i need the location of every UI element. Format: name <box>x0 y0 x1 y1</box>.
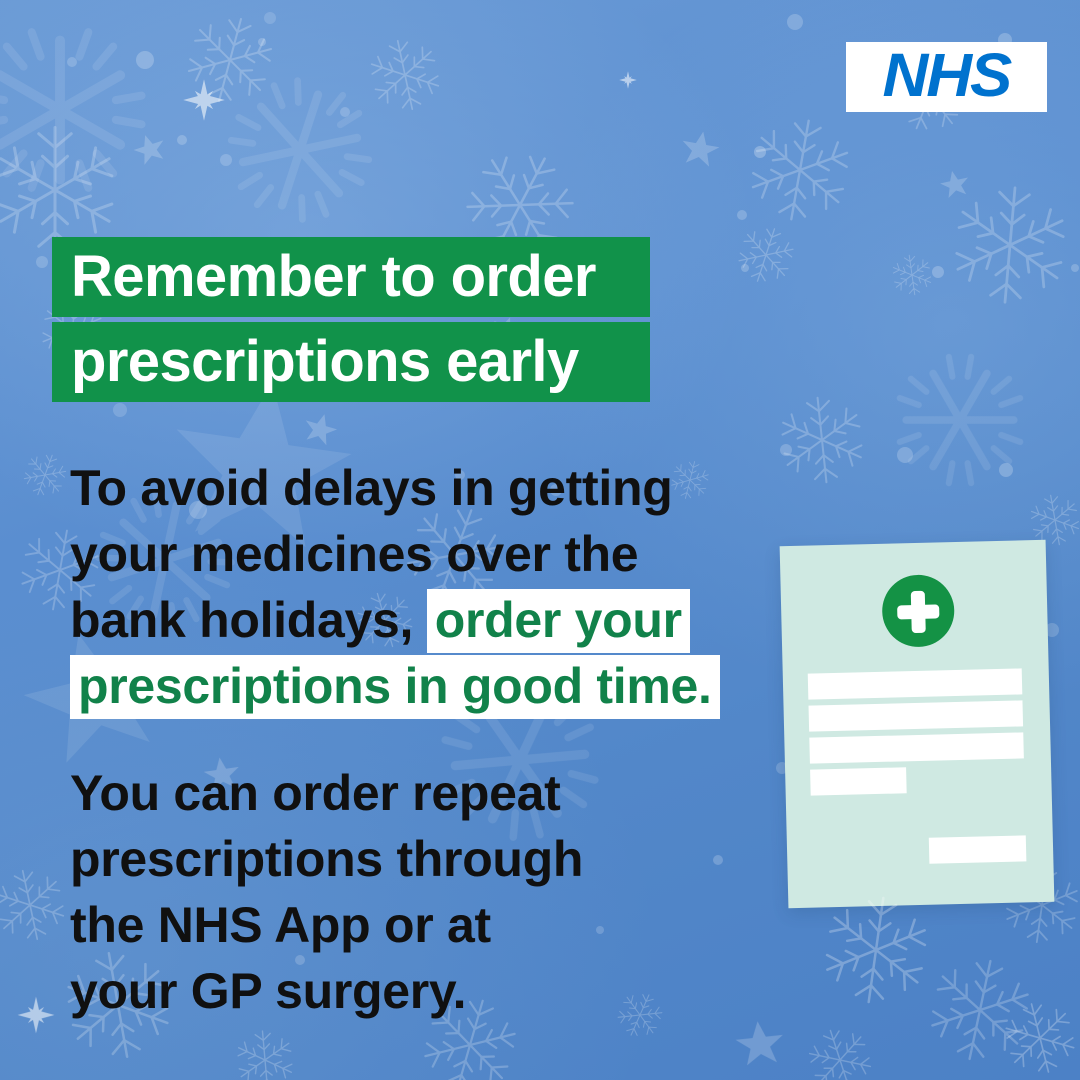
medical-cross-icon <box>881 574 955 648</box>
prescription-text-line <box>809 732 1024 763</box>
body-2-line-1: You can order repeat <box>70 760 770 826</box>
cross-vertical-bar <box>911 590 926 632</box>
body-2-line-3: the NHS App or at <box>70 892 770 958</box>
body-1-line-3-plain: bank holidays, <box>70 592 413 648</box>
headline-line-1: Remember to order <box>52 237 650 317</box>
body-1-line-1: To avoid delays in getting <box>70 455 770 521</box>
body-1-line-4: prescriptions in good time. <box>70 653 770 719</box>
body-1-line-2: your medicines over the <box>70 521 770 587</box>
body-paragraph-1: To avoid delays in getting your medicine… <box>70 455 770 719</box>
headline-line-2: prescriptions early <box>52 322 650 402</box>
nhs-winter-prescription-poster: NHS Remember to order prescriptions earl… <box>0 0 1080 1080</box>
body-1-line-4-highlight: prescriptions in good time. <box>70 655 720 719</box>
prescription-text-line-short <box>810 767 907 795</box>
body-paragraph-2: You can order repeat prescriptions throu… <box>70 760 770 1024</box>
body-1-line-3: bank holidays, order your <box>70 587 770 653</box>
prescription-text-line <box>809 700 1024 731</box>
headline: Remember to order prescriptions early <box>52 237 652 402</box>
prescription-signature-line <box>929 835 1027 863</box>
body-2-line-4: your GP surgery. <box>70 958 770 1024</box>
body-1-line-3-highlight: order your <box>427 589 690 653</box>
body-2-line-2: prescriptions through <box>70 826 770 892</box>
nhs-logo: NHS <box>846 42 1047 112</box>
prescription-text-line <box>808 668 1023 699</box>
prescription-card-illustration <box>780 540 1055 908</box>
nhs-wordmark: NHS <box>883 45 1011 109</box>
